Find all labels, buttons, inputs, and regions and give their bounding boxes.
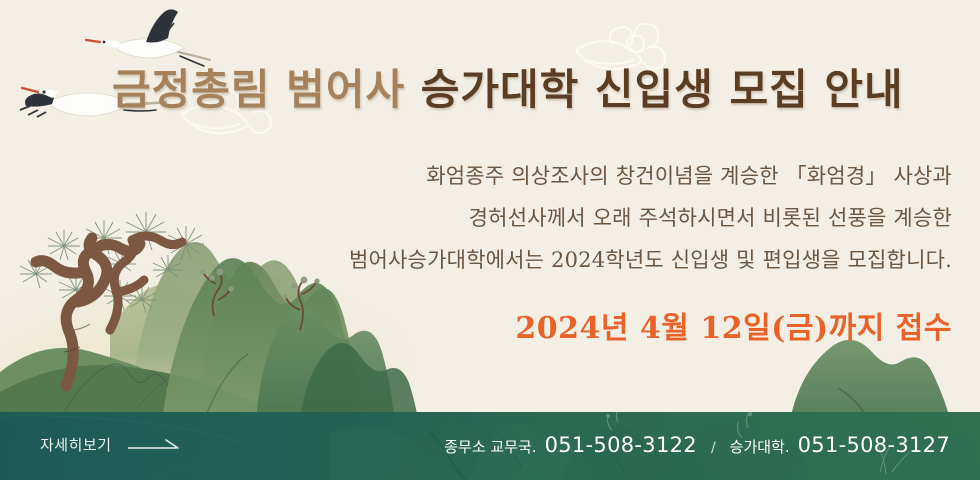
body-paragraph: 화엄종주 의상조사의 창건이념을 계승한 「화엄경」 사상과 경허선사께서 오래… [349,155,952,281]
pine-trunk [36,238,140,386]
body-line-1: 화엄종주 의상조사의 창건이념을 계승한 「화엄경」 사상과 [349,155,952,197]
more-details-label: 자세히보기 [40,434,112,455]
contact-label-admin: 종무소 교무국. [444,436,536,457]
deadline-text: 2024년 4월 12일(금)까지 접수 [515,303,952,347]
contact-number-college[interactable]: 051-508-3127 [798,433,950,457]
title-part-temple: 금정총림 범어사 [112,65,421,114]
arrow-right-icon [128,438,186,452]
title-part-program: 승가대학 신입생 모집 안내 [421,65,904,114]
body-line-2: 경허선사께서 오래 주석하시면서 비롯된 선풍을 계승한 [349,197,952,239]
contact-label-college: 승가대학. [730,436,790,457]
contact-info: 종무소 교무국. 051-508-3122 / 승가대학. 051-508-31… [444,433,950,457]
more-details-link[interactable]: 자세히보기 [40,434,186,455]
pine-tree [20,212,204,386]
blossom-branch-left [201,269,234,316]
pine-needles [20,212,204,313]
pine-branch-right [110,236,182,330]
contact-separator: / [705,440,722,456]
body-line-3: 범어사승가대학에서는 2024학년도 신입생 및 편입생을 모집합니다. [349,239,952,281]
recruitment-banner: 금정총림 범어사 승가대학 신입생 모집 안내 화엄종주 의상조사의 창건이념을… [0,0,980,480]
blossom-branch-right [282,277,319,330]
contact-number-admin[interactable]: 051-508-3122 [545,433,697,457]
mountain-range-right [790,340,950,420]
mountain-range-center [162,258,418,420]
mountain-range-left [0,242,360,420]
banner-title: 금정총림 범어사 승가대학 신입생 모집 안내 [112,56,904,117]
footer-bar: 자세히보기 종무소 교무국. 051-508-3122 / 승가대학. 051-… [0,412,980,480]
